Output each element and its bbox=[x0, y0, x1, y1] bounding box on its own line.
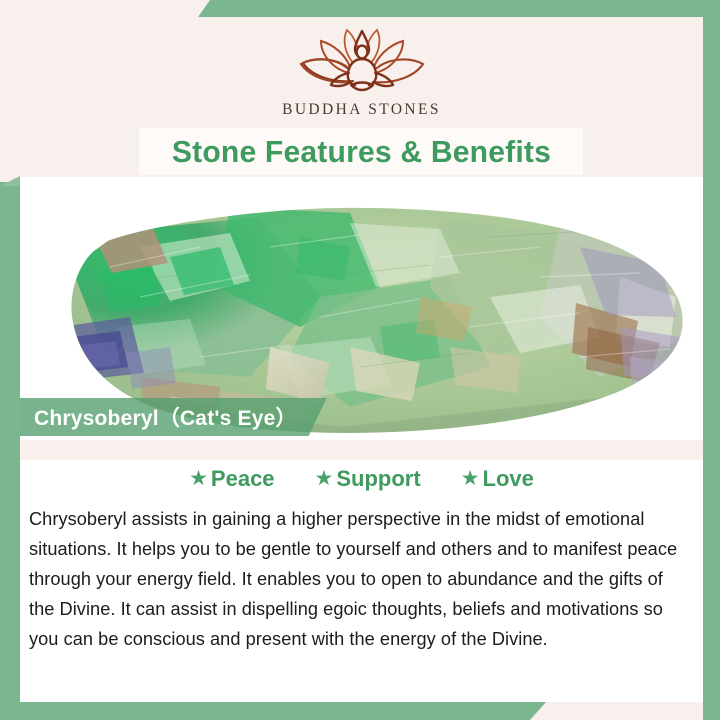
card-content: ★ Peace ★ Support ★ Love Chrysoberyl ass… bbox=[20, 460, 703, 702]
benefit-item: ★ Peace bbox=[189, 466, 274, 492]
benefit-item: ★ Love bbox=[461, 466, 534, 492]
page-title: Stone Features & Benefits bbox=[171, 134, 550, 170]
benefit-item: ★ Support bbox=[315, 466, 421, 492]
stone-name: Chrysoberyl（Cat's Eye） bbox=[34, 402, 297, 432]
stone-features-card: BUDDHA STONES Stone Features & Benefits bbox=[0, 0, 720, 720]
frame-left-tip bbox=[0, 176, 20, 186]
frame-left-bar bbox=[0, 182, 20, 720]
benefit-label: Love bbox=[483, 466, 534, 492]
benefits-row: ★ Peace ★ Support ★ Love bbox=[20, 466, 703, 492]
frame-top-bar bbox=[198, 0, 720, 17]
stone-name-banner: Chrysoberyl（Cat's Eye） bbox=[20, 398, 327, 436]
frame-right-bar bbox=[703, 0, 720, 720]
benefit-label: Peace bbox=[211, 466, 275, 492]
stone-photo: Chrysoberyl（Cat's Eye） bbox=[20, 177, 703, 440]
star-icon: ★ bbox=[461, 468, 480, 489]
star-icon: ★ bbox=[189, 468, 208, 489]
stone-description: Chrysoberyl assists in gaining a higher … bbox=[29, 504, 693, 654]
divider-strip bbox=[20, 440, 703, 460]
brand-name: BUDDHA STONES bbox=[282, 101, 441, 119]
benefit-label: Support bbox=[336, 466, 420, 492]
title-band: Stone Features & Benefits bbox=[139, 128, 583, 175]
lotus-meditation-icon bbox=[287, 25, 437, 99]
frame-bottom-bar bbox=[0, 702, 546, 720]
brand-logo: BUDDHA STONES bbox=[20, 25, 703, 119]
star-icon: ★ bbox=[315, 468, 334, 489]
